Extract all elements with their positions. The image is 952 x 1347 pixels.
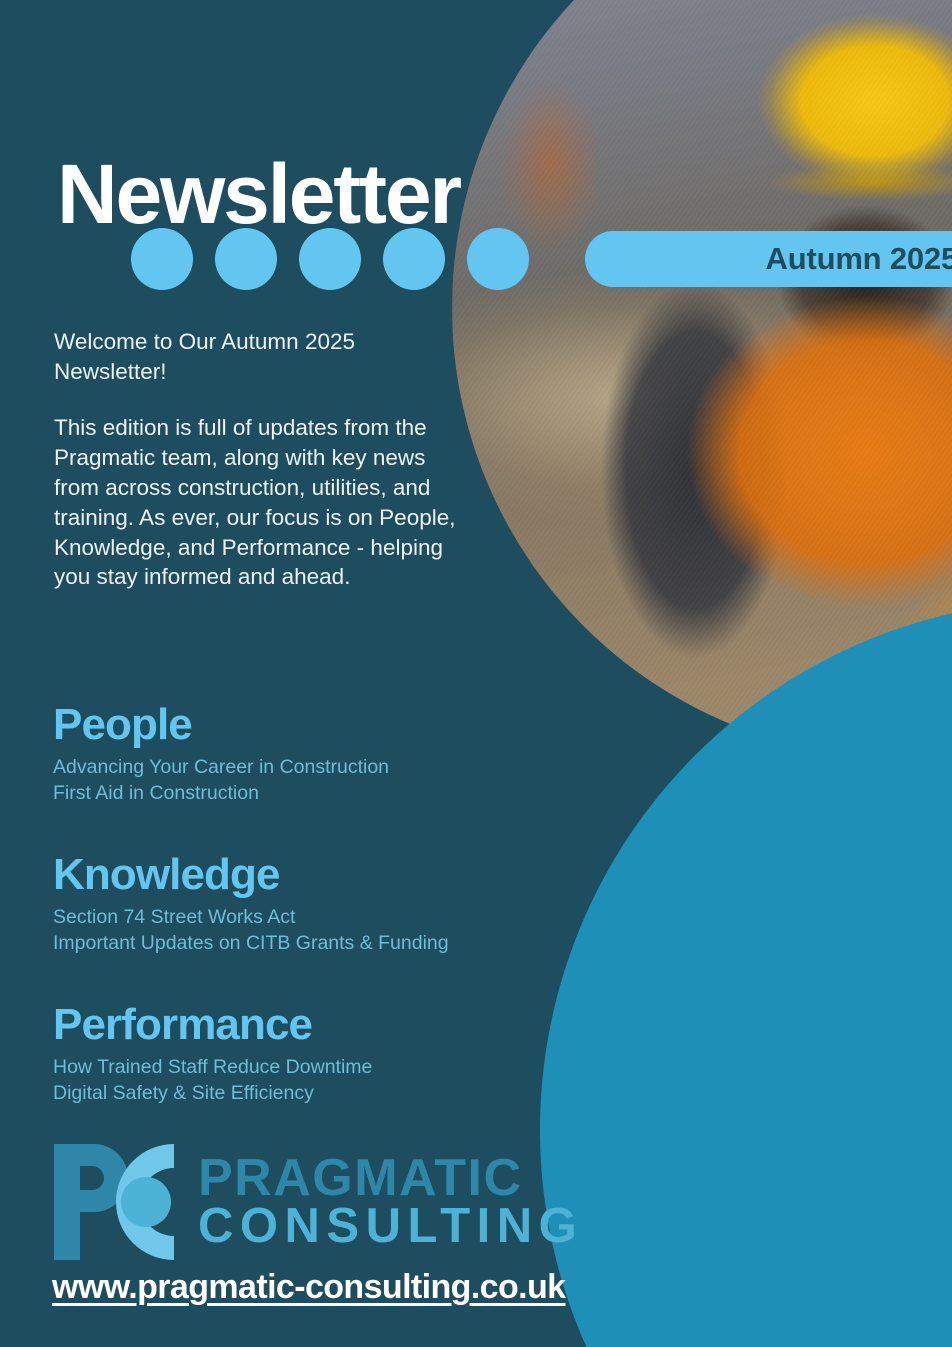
dot-icon [467, 228, 529, 290]
page-title: Newsletter [57, 152, 460, 236]
section-item[interactable]: Important Updates on CITB Grants & Fundi… [53, 931, 449, 957]
logo-word-pragmatic: PRAGMATIC [198, 1154, 583, 1204]
section-title: People [53, 702, 389, 749]
section-item[interactable]: Advancing Your Career in Construction [53, 755, 389, 781]
newsletter-page: Newsletter Autumn 2025 Welcome to Our Au… [0, 0, 952, 1347]
intro-paragraph: Welcome to Our Autumn 2025 Newsletter! [54, 327, 458, 387]
section-item[interactable]: Digital Safety & Site Efficiency [53, 1081, 372, 1107]
section-knowledge: Knowledge Section 74 Street Works Act Im… [53, 852, 449, 956]
website-url[interactable]: www.pragmatic-consulting.co.uk [52, 1268, 565, 1307]
dot-icon [299, 228, 361, 290]
brand-logo: PRAGMATIC CONSULTING [50, 1140, 583, 1264]
section-item[interactable]: How Trained Staff Reduce Downtime [53, 1055, 372, 1081]
section-performance: Performance How Trained Staff Reduce Dow… [53, 1002, 372, 1106]
section-title: Knowledge [53, 852, 449, 899]
logo-word-consulting: CONSULTING [198, 1203, 583, 1250]
intro-text: Welcome to Our Autumn 2025 Newsletter! T… [54, 327, 458, 592]
season-badge: Autumn 2025 [585, 231, 952, 287]
logo-wordmark: PRAGMATIC CONSULTING [198, 1154, 583, 1251]
section-item[interactable]: Section 74 Street Works Act [53, 905, 449, 931]
dot-icon [215, 228, 277, 290]
intro-paragraph: This edition is full of updates from the… [54, 413, 458, 593]
section-people: People Advancing Your Career in Construc… [53, 702, 389, 806]
section-title: Performance [53, 1002, 372, 1049]
pragmatic-consulting-logo-icon [50, 1140, 178, 1264]
season-badge-label: Autumn 2025 [766, 241, 952, 277]
dot-decoration-row [131, 228, 529, 290]
section-item[interactable]: First Aid in Construction [53, 781, 389, 807]
dot-icon [383, 228, 445, 290]
dot-icon [131, 228, 193, 290]
